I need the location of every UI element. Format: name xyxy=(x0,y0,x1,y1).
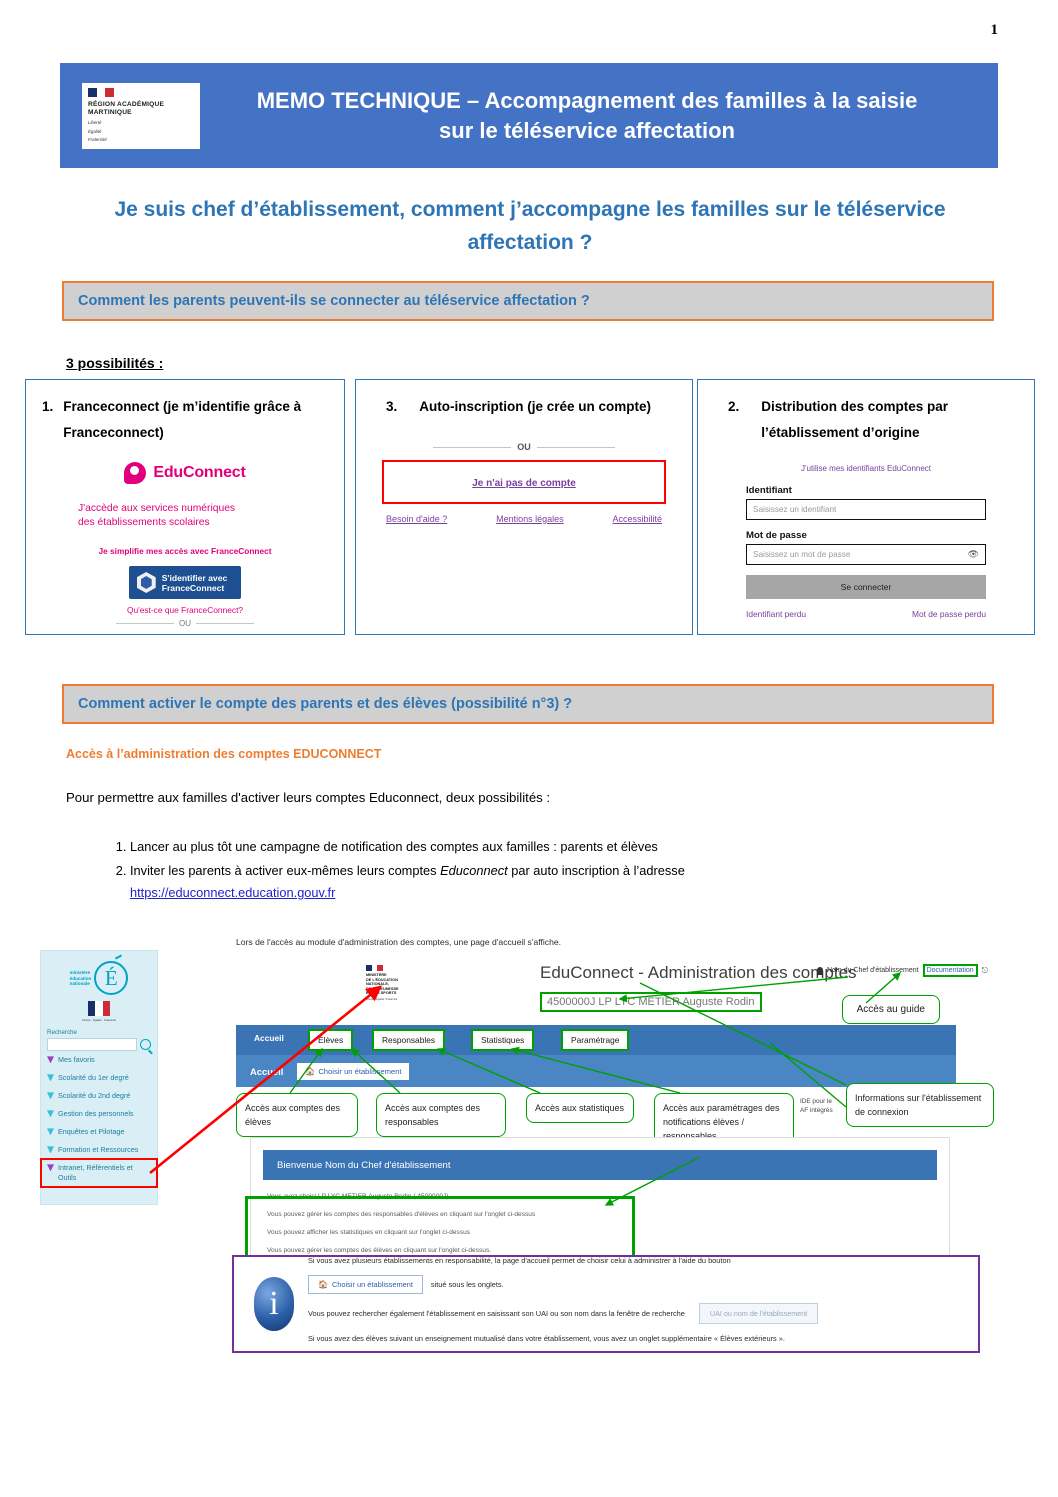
or-separator: OU xyxy=(26,619,344,628)
fc-btn-line-2: FranceConnect xyxy=(162,583,225,593)
header-banner: RÉGION ACADÉMIQUE MARTINIQUE Liberté Éga… xyxy=(60,63,998,168)
section-banner-activation: Comment activer le compte des parents et… xyxy=(62,684,994,724)
logo-line-1: RÉGION ACADÉMIQUE xyxy=(88,101,194,109)
franceconnect-hex-icon xyxy=(137,572,156,593)
info-button-row: 🏠 Choisir un établissement situé sous le… xyxy=(308,1275,962,1294)
educonnect-url-link[interactable]: https://educonnect.education.gouv.fr xyxy=(130,885,335,900)
activation-options-list: Lancer au plus tôt une campagne de notif… xyxy=(92,836,990,906)
or-label-2: OU xyxy=(517,442,531,452)
list-item: Lancer au plus tôt une campagne de notif… xyxy=(130,836,990,858)
ministry-e-logo: ministère éducation nationale É xyxy=(70,961,129,995)
sidebar-item-label: Intranet, Référentiels et Outils xyxy=(58,1163,153,1183)
eye-icon[interactable]: 👁 xyxy=(968,549,979,560)
triangle-bullet-icon xyxy=(47,1074,54,1081)
logo-devise-3: Fraternité xyxy=(88,137,194,143)
sidebar-item-label: Formation et Ressources xyxy=(58,1145,138,1155)
info-text-block: Si vous avez plusieurs établissements en… xyxy=(308,1255,978,1353)
uai-establishment-field[interactable]: 4500000J LP LYC METIER Auguste Rodin xyxy=(540,992,762,1012)
triangle-bullet-icon xyxy=(47,1110,54,1117)
user-bar: Nom du Chef d'établissement Documentatio… xyxy=(817,964,988,977)
sidebar-item-label: Scolarité du 1er degré xyxy=(58,1073,129,1083)
or-label: OU xyxy=(179,619,191,628)
info-icon: i xyxy=(254,1277,294,1331)
french-flag-icon-sidebar xyxy=(88,1001,110,1016)
search-input[interactable] xyxy=(47,1038,137,1051)
callout-informations-etablissement: Informations sur l'établissement de conn… xyxy=(846,1083,994,1127)
info-paragraph-1: Si vous avez plusieurs établissements en… xyxy=(308,1255,962,1266)
welcome-line-1: Vous avez choisi LP LYC METIER Auguste R… xyxy=(267,1192,933,1201)
callout-comptes-eleves: Accès aux comptes des élèves xyxy=(236,1093,358,1137)
identifiant-label: Identifiant xyxy=(746,485,986,496)
option-box-distribution: 2. Distribution des comptes par l’établi… xyxy=(697,379,1035,635)
welcome-line-4: Vous pouvez gérer les comptes des élèves… xyxy=(267,1246,933,1255)
info-paragraph-2: Vous pouvez rechercher également l'établ… xyxy=(308,1309,685,1318)
sidebar-item-mes-favoris[interactable]: Mes favoris xyxy=(41,1051,157,1069)
identifiant-input[interactable]: Saisissez un identifiant xyxy=(746,499,986,520)
tab-responsables[interactable]: Responsables xyxy=(372,1029,445,1051)
franceconnect-what-link[interactable]: Qu'est-ce que FranceConnect? xyxy=(26,605,344,615)
tab-eleves[interactable]: Élèves xyxy=(308,1029,353,1051)
legal-link[interactable]: Mentions légales xyxy=(496,514,564,524)
or-separator-2: OU xyxy=(382,442,666,452)
header-title: MEMO TECHNIQUE – Accompagnement des fami… xyxy=(200,86,998,146)
educonnect-subtitle-line-2: des établissements scolaires xyxy=(78,516,344,530)
sidebar-search-label: Recherche xyxy=(41,1022,157,1038)
no-account-link[interactable]: Je n'ai pas de compte xyxy=(472,478,576,489)
activation-item-2-italic: Educonnect xyxy=(440,863,508,878)
callout-comptes-responsables: Accès aux comptes des responsables xyxy=(376,1093,506,1137)
use-educonnect-ids-link[interactable]: J'utilise mes identifiants EduConnect xyxy=(746,464,986,473)
e-circle-icon: É xyxy=(94,961,128,995)
educonnect-login-mock: EduConnect J'accède aux services numériq… xyxy=(26,446,344,628)
connect-button[interactable]: Se connecter xyxy=(746,575,986,599)
section-banner-connexion-label: Comment les parents peuvent-ils se conne… xyxy=(64,293,590,309)
welcome-lines: Vous avez choisi LP LYC METIER Auguste R… xyxy=(251,1180,949,1255)
option-3-heading: 2. Distribution des comptes par l’établi… xyxy=(698,380,1034,446)
welcome-panel: Bienvenue Nom du Chef d'établissement Vo… xyxy=(250,1137,950,1257)
callout-acces-au-guide: Accès au guide xyxy=(842,995,940,1024)
welcome-header: Bienvenue Nom du Chef d'établissement xyxy=(263,1150,937,1180)
option-2-heading: 3. Auto-inscription (je crée un compte) xyxy=(356,380,692,420)
educonnect-subtitle-line-1: J'accède aux services numériques xyxy=(78,502,344,516)
lost-identifiant-link[interactable]: Identifiant perdu xyxy=(746,609,806,619)
activation-item-2-before: Inviter les parents à activer eux-mêmes … xyxy=(130,863,440,878)
franceconnect-login-button[interactable]: S'identifier avec FranceConnect xyxy=(129,566,242,599)
possibilities-heading: 3 possibilités : xyxy=(66,355,163,371)
user-name: Nom du Chef d'établissement xyxy=(827,967,919,974)
sidebar-item-intranet-referentiels[interactable]: Intranet, Référentiels et Outils xyxy=(41,1159,157,1187)
app-subbar: Accueil 🏠 Choisir un établissement xyxy=(236,1055,956,1087)
sidebar-item-label: Mes favoris xyxy=(58,1055,95,1065)
logo-devise-1: Liberté xyxy=(88,120,194,126)
option-3-label: Distribution des comptes par l’établisse… xyxy=(761,394,1018,446)
activation-item-1-text: Lancer au plus tôt une campagne de notif… xyxy=(130,839,658,854)
callout-statistiques: Accès aux statistiques xyxy=(526,1093,634,1123)
intranet-sidebar: ministère éducation nationale É Liberté … xyxy=(40,950,158,1205)
or-rule-left xyxy=(116,623,174,624)
activation-intro-text: Pour permettre aux familles d'activer le… xyxy=(66,790,550,805)
password-label: Mot de passe xyxy=(746,530,986,541)
activation-item-2-after: par auto inscription à l’adresse xyxy=(508,863,685,878)
choisir-etablissement-info-label: Choisir un établissement xyxy=(332,1280,413,1289)
section-banner-connexion: Comment les parents peuvent-ils se conne… xyxy=(62,281,994,321)
password-placeholder: Saisissez un mot de passe xyxy=(753,550,850,559)
page-title: Je suis chef d’établissement, comment j’… xyxy=(95,193,965,259)
ministry-line-1: ministère xyxy=(70,970,90,975)
sidebar-search[interactable] xyxy=(41,1038,157,1051)
triangle-bullet-icon xyxy=(47,1056,54,1063)
franceconnect-button-label: S'identifier avec FranceConnect xyxy=(162,573,228,593)
info-paragraph-1b: situé sous les onglets. xyxy=(431,1280,504,1289)
sidebar-item-label: Scolarité du 2nd degré xyxy=(58,1091,130,1101)
triangle-bullet-icon xyxy=(47,1128,54,1135)
option-2-label: Auto-inscription (je crée un compte) xyxy=(419,394,676,420)
user-icon xyxy=(817,967,823,975)
ministry-logo-app: MINISTÈRE DE L'ÉDUCATION NATIONALE, DE L… xyxy=(366,965,399,1001)
ministry-app-line-5: ET DES SPORTS xyxy=(366,991,399,996)
sidebar-item-label: Gestion des personnels xyxy=(58,1109,134,1119)
fc-btn-line-1: S'identifier avec xyxy=(162,573,228,583)
info-search-row: Vous pouvez rechercher également l'établ… xyxy=(308,1303,962,1324)
educonnect-swoosh-icon xyxy=(124,462,146,484)
option-box-franceconnect: 1. Franceconnect (je m’identifie grâce à… xyxy=(25,379,345,635)
option-3-number: 2. xyxy=(728,394,739,446)
option-1-label: Franceconnect (je m’identifie grâce à Fr… xyxy=(63,394,328,446)
ministry-line-3: nationale xyxy=(70,981,90,986)
sidebar-item-formation-ressources[interactable]: Formation et Ressources xyxy=(41,1141,157,1159)
ministry-logo-sidebar: ministère éducation nationale É Liberté … xyxy=(41,951,157,1022)
educonnect-credentials-mock: J'utilise mes identifiants EduConnect Id… xyxy=(698,446,1034,619)
sidebar-item-scolarite-1er[interactable]: Scolarité du 1er degré xyxy=(41,1069,157,1087)
option-1-number: 1. xyxy=(42,394,53,446)
triangle-bullet-icon xyxy=(47,1164,54,1171)
auto-inscription-mock: OU Je n'ai pas de compte Besoin d'aide ?… xyxy=(356,420,692,524)
subbar-title: Accueil xyxy=(236,1066,283,1077)
section-banner-activation-label: Comment activer le compte des parents et… xyxy=(64,696,572,712)
sidebar-item-label: Enquêtes et Pilotage xyxy=(58,1127,124,1137)
french-flag-icon-app xyxy=(366,965,383,971)
help-link[interactable]: Besoin d'aide ? xyxy=(386,514,447,524)
document-page: 1 RÉGION ACADÉMIQUE MARTINIQUE Liberté É… xyxy=(0,0,1058,1497)
choisir-etablissement-button-info[interactable]: 🏠 Choisir un établissement xyxy=(308,1275,423,1294)
triangle-bullet-icon xyxy=(47,1146,54,1153)
region-academique-logo: RÉGION ACADÉMIQUE MARTINIQUE Liberté Éga… xyxy=(82,83,200,149)
footer-links: Besoin d'aide ? Mentions légales Accessi… xyxy=(382,514,666,524)
screenshot-intro-text: Lors de l'accès au module d'administrati… xyxy=(236,937,561,947)
triangle-bullet-icon xyxy=(47,1092,54,1099)
home-icon: 🏠 xyxy=(318,1280,328,1289)
sidebar-item-enquetes-pilotage[interactable]: Enquêtes et Pilotage xyxy=(41,1123,157,1141)
lost-credentials-links: Identifiant perdu Mot de passe perdu xyxy=(746,609,986,619)
or-rule-right-2 xyxy=(537,447,615,448)
educonnect-logo: EduConnect xyxy=(26,462,344,484)
option-2-number: 3. xyxy=(386,394,397,420)
accessibility-link[interactable]: Accessibilité xyxy=(612,514,662,524)
educonnect-brand: EduConnect xyxy=(153,464,245,482)
no-account-highlight-box: Je n'ai pas de compte xyxy=(382,460,666,504)
option-1-heading: 1. Franceconnect (je m’identifie grâce à… xyxy=(26,380,344,446)
logo-line-2: MARTINIQUE xyxy=(88,109,194,117)
sidebar-item-gestion-personnels[interactable]: Gestion des personnels xyxy=(41,1105,157,1123)
french-flag-icon xyxy=(88,88,114,97)
uai-search-input[interactable]: UAI ou nom de l'établissement xyxy=(699,1303,818,1324)
ministry-app-devise: Liberté / Égalité / Fraternité xyxy=(366,998,399,1001)
tab-parametrage[interactable]: Paramétrage xyxy=(561,1029,629,1051)
screenshot-educonnect-admin: ministère éducation nationale É Liberté … xyxy=(0,925,1058,1355)
list-item: Inviter les parents à activer eux-mêmes … xyxy=(130,860,990,904)
header-title-line-1: MEMO TECHNIQUE – Accompagnement des fami… xyxy=(210,86,964,116)
app-title: EduConnect - Administration des comptes xyxy=(540,963,857,983)
info-panel: i Si vous avez plusieurs établissements … xyxy=(232,1255,980,1353)
sidebar-item-scolarite-2nd[interactable]: Scolarité du 2nd degré xyxy=(41,1087,157,1105)
access-admin-heading: Accès à l’administration des comptes EDU… xyxy=(66,747,381,761)
page-number: 1 xyxy=(991,22,999,39)
app-tab-bar: Accueil Élèves Responsables Statistiques… xyxy=(236,1025,956,1055)
password-input[interactable]: Saisissez un mot de passe 👁 xyxy=(746,544,986,565)
educonnect-subtitle: J'accède aux services numériques des éta… xyxy=(78,502,344,530)
tab-accueil[interactable]: Accueil xyxy=(246,1029,292,1047)
ministry-line-2: éducation xyxy=(70,976,92,981)
info-paragraph-3: Si vous avez des élèves suivant un ensei… xyxy=(308,1333,962,1344)
power-icon[interactable]: ⎋ xyxy=(982,966,988,976)
home-icon: 🏠 xyxy=(305,1067,315,1076)
identifiant-placeholder: Saisissez un identifiant xyxy=(753,505,836,514)
choisir-etablissement-button[interactable]: 🏠 Choisir un établissement xyxy=(297,1063,409,1080)
welcome-line-3: Vous pouvez afficher les statistiques en… xyxy=(267,1228,933,1237)
franceconnect-simplify-text: Je simplifie mes accès avec FranceConnec… xyxy=(26,546,344,556)
option-box-auto-inscription: 3. Auto-inscription (je crée un compte) … xyxy=(355,379,693,635)
search-icon[interactable] xyxy=(140,1039,151,1050)
welcome-line-2: Vous pouvez gérer les comptes des respon… xyxy=(267,1210,933,1219)
tab-statistiques[interactable]: Statistiques xyxy=(471,1029,534,1051)
choisir-etablissement-label: Choisir un établissement xyxy=(318,1067,401,1076)
ministry-words: ministère éducation nationale xyxy=(70,970,92,987)
or-rule-left-2 xyxy=(433,447,511,448)
or-rule-right xyxy=(196,623,254,624)
lost-password-link[interactable]: Mot de passe perdu xyxy=(912,609,986,619)
logo-devise-2: Égalité xyxy=(88,129,194,135)
header-title-line-2: sur le téléservice affectation xyxy=(210,116,964,146)
documentation-link[interactable]: Documentation xyxy=(923,964,978,977)
